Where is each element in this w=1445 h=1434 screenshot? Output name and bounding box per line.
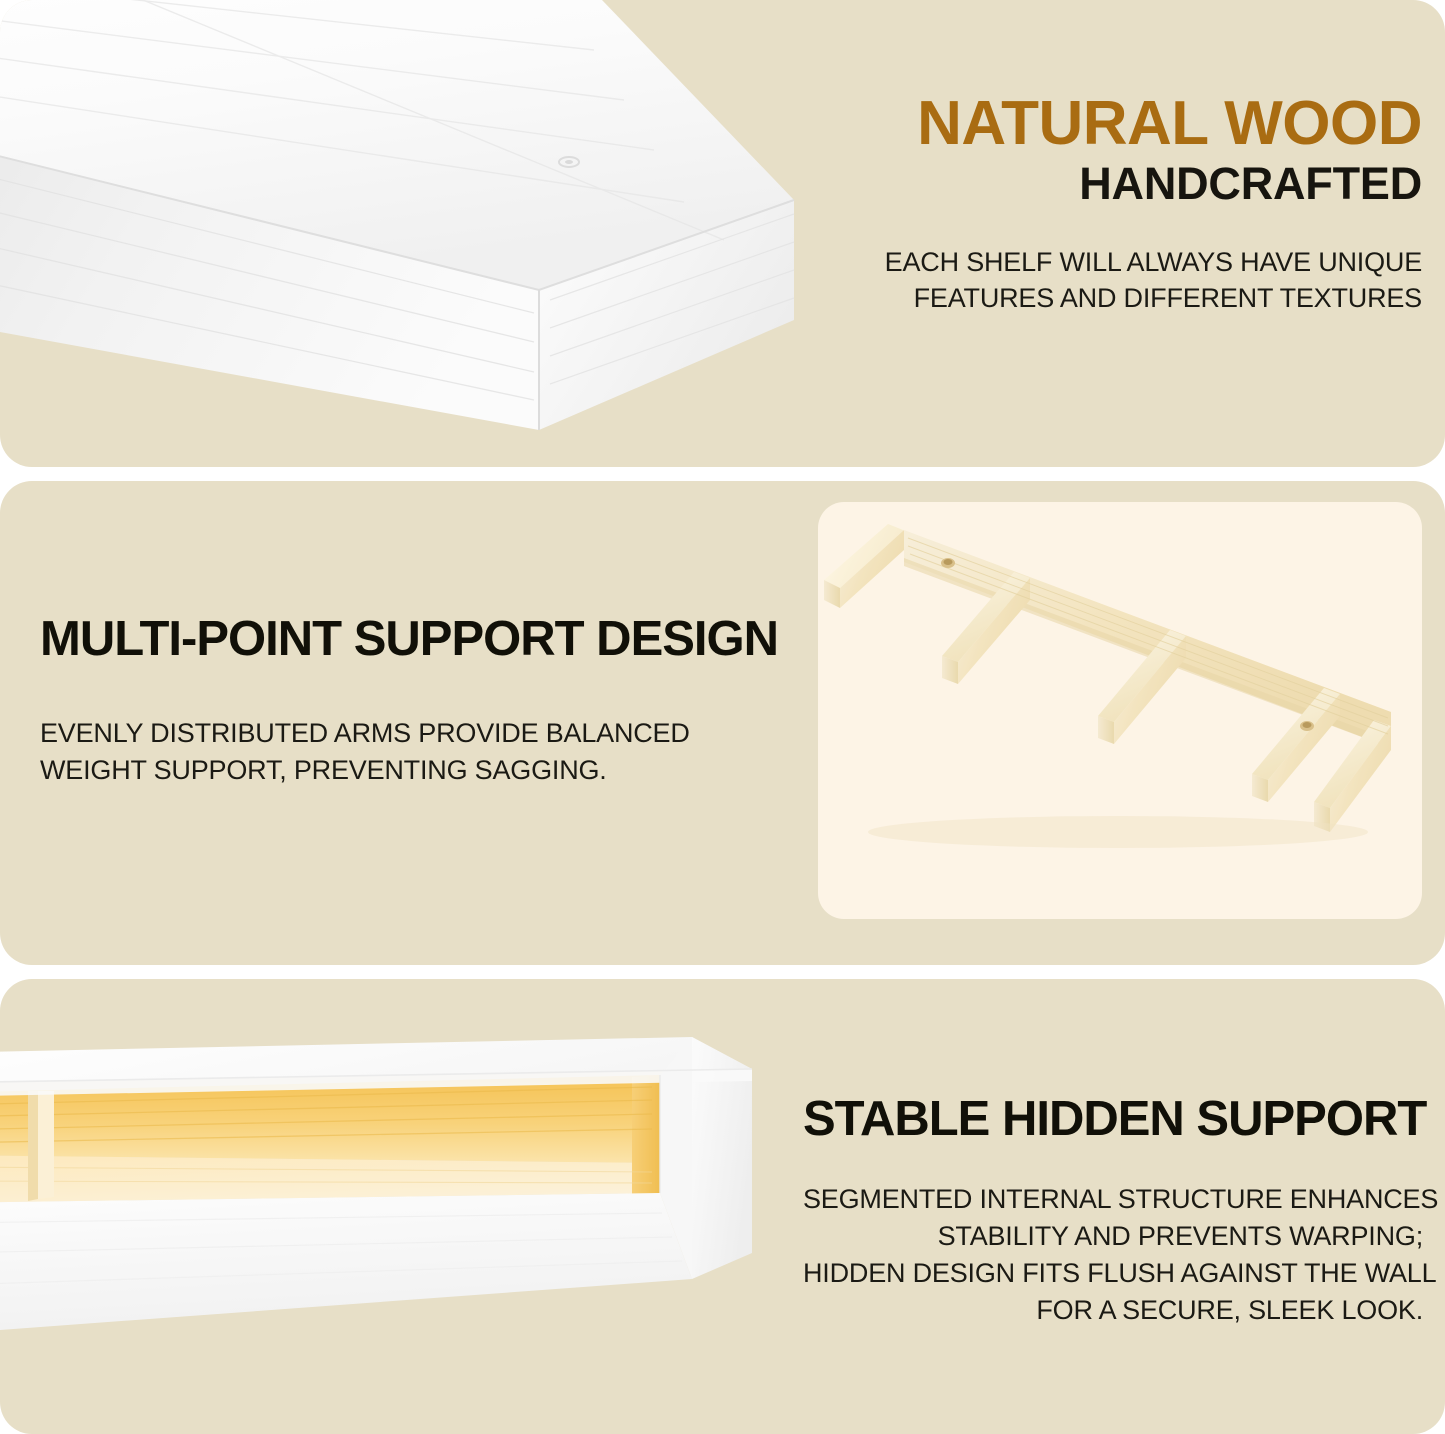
shelf-block-image [0,0,814,467]
description-line: STABILITY AND PREVENTS WARPING; [803,1218,1423,1255]
panel-multi-point-support: MULTI-POINT SUPPORT DESIGN EVENLY DISTRI… [0,481,1445,965]
bracket-image-card [818,502,1422,919]
description-line: FEATURES AND DIFFERENT TEXTURES [822,280,1422,316]
panel-natural-wood: NATURAL WOOD HANDCRAFTED EACH SHELF WILL… [0,0,1445,467]
description-line: SEGMENTED INTERNAL STRUCTURE ENHANCES [803,1181,1423,1218]
description-line: FOR A SECURE, SLEEK LOOK. [803,1292,1423,1329]
description-line: EACH SHELF WILL ALWAYS HAVE UNIQUE [822,244,1422,280]
headline-secondary: HANDCRAFTED [822,159,1422,209]
natural-wood-text-block: NATURAL WOOD HANDCRAFTED EACH SHELF WILL… [822,92,1422,316]
hidden-support-text-block: STABLE HIDDEN SUPPORT SEGMENTED INTERNAL… [803,1094,1423,1329]
screw-hole-icon [941,558,955,568]
wall-bracket-image [818,502,1422,919]
screw-hole-icon [1300,721,1314,731]
multi-point-text-block: MULTI-POINT SUPPORT DESIGN EVENLY DISTRI… [40,614,780,789]
description-line: EVENLY DISTRIBUTED ARMS PROVIDE BALANCED [40,715,780,752]
multi-point-description: EVENLY DISTRIBUTED ARMS PROVIDE BALANCED… [40,715,780,788]
headline-primary: NATURAL WOOD [822,92,1422,155]
product-infographic: NATURAL WOOD HANDCRAFTED EACH SHELF WILL… [0,0,1445,1434]
description-line: HIDDEN DESIGN FITS FLUSH AGAINST THE WAL… [803,1255,1423,1292]
natural-wood-description: EACH SHELF WILL ALWAYS HAVE UNIQUE FEATU… [822,244,1422,316]
hollow-shelf-image [0,1017,802,1417]
hidden-support-heading: STABLE HIDDEN SUPPORT [803,1094,1423,1145]
multi-point-heading: MULTI-POINT SUPPORT DESIGN [40,614,780,665]
hidden-support-description: SEGMENTED INTERNAL STRUCTURE ENHANCES ST… [803,1181,1423,1329]
description-line: WEIGHT SUPPORT, PREVENTING SAGGING. [40,752,780,789]
panel-stable-hidden-support: STABLE HIDDEN SUPPORT SEGMENTED INTERNAL… [0,979,1445,1434]
